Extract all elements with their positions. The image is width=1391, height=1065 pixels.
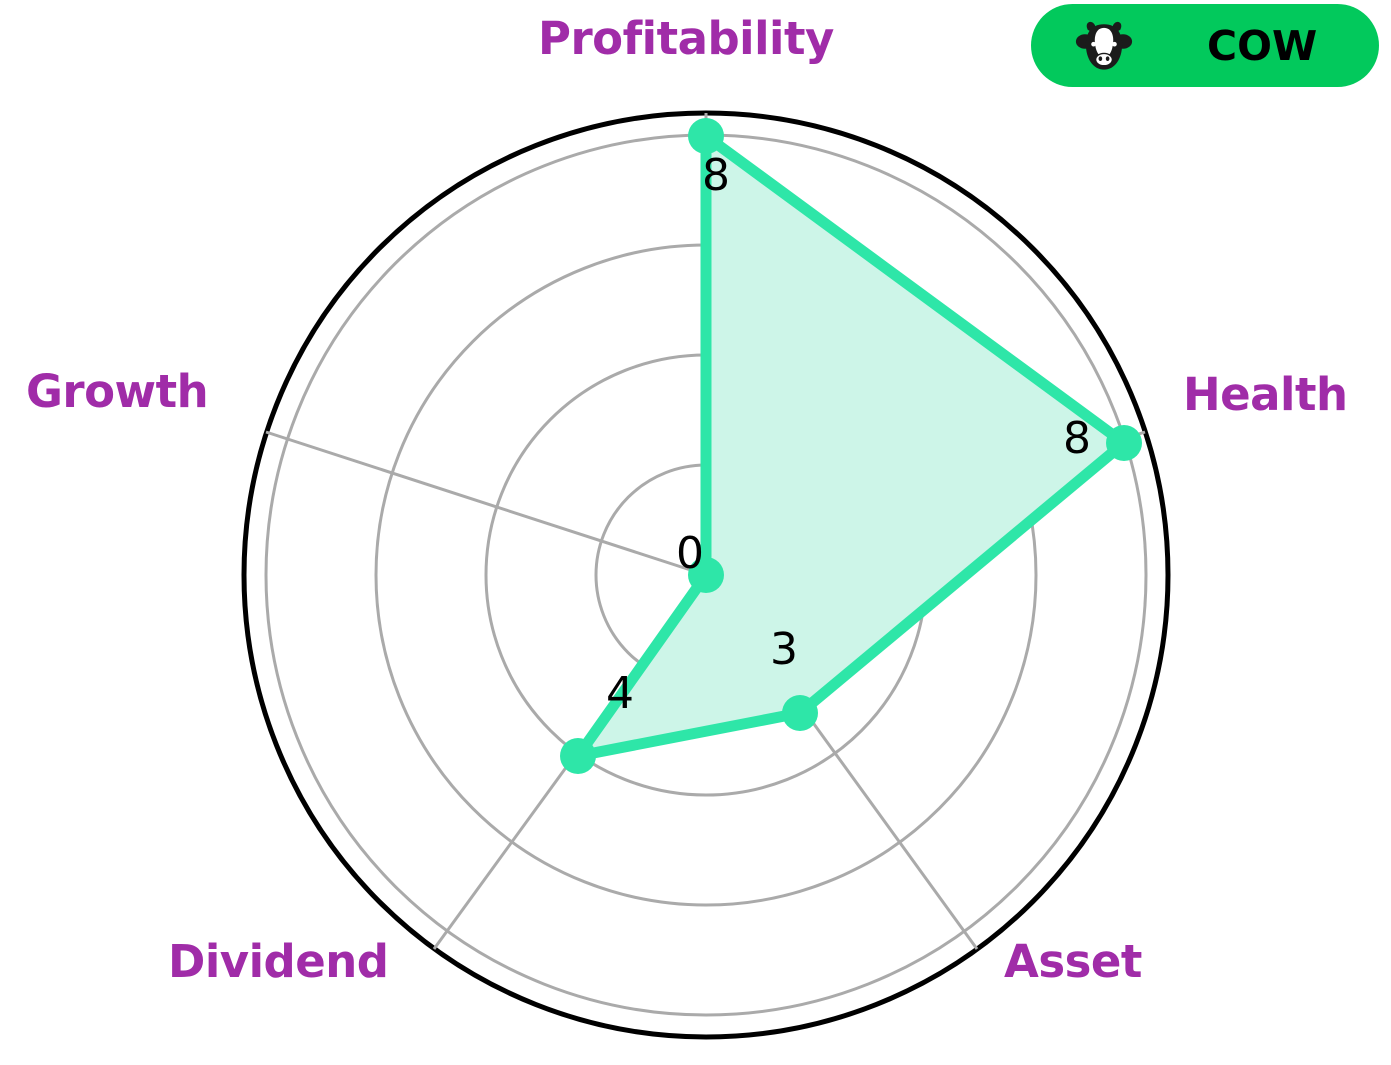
value-label-profitability: 8 bbox=[702, 150, 730, 201]
value-label-dividend: 4 bbox=[606, 668, 634, 719]
axis-label-growth: Growth bbox=[26, 365, 208, 418]
value-label-growth: 0 bbox=[676, 528, 704, 579]
axis-label-profitability: Profitability bbox=[538, 12, 834, 65]
axis-label-asset: Asset bbox=[1004, 935, 1142, 988]
data-point-dividend bbox=[560, 738, 596, 774]
ticker-badge[interactable]: COW bbox=[1031, 4, 1379, 87]
data-point-profitability bbox=[688, 118, 724, 154]
axis-label-health: Health bbox=[1183, 368, 1348, 421]
value-label-asset: 3 bbox=[770, 624, 798, 675]
ticker-symbol-label: COW bbox=[1207, 22, 1317, 70]
data-point-asset bbox=[782, 695, 818, 731]
data-point-health bbox=[1106, 425, 1142, 461]
axis-label-dividend: Dividend bbox=[168, 935, 389, 988]
value-label-health: 8 bbox=[1063, 413, 1091, 464]
radar-chart: Profitability Health Asset Dividend Grow… bbox=[0, 0, 1391, 1065]
radar-series-cow bbox=[560, 118, 1142, 774]
cow-face-icon bbox=[1075, 17, 1133, 75]
